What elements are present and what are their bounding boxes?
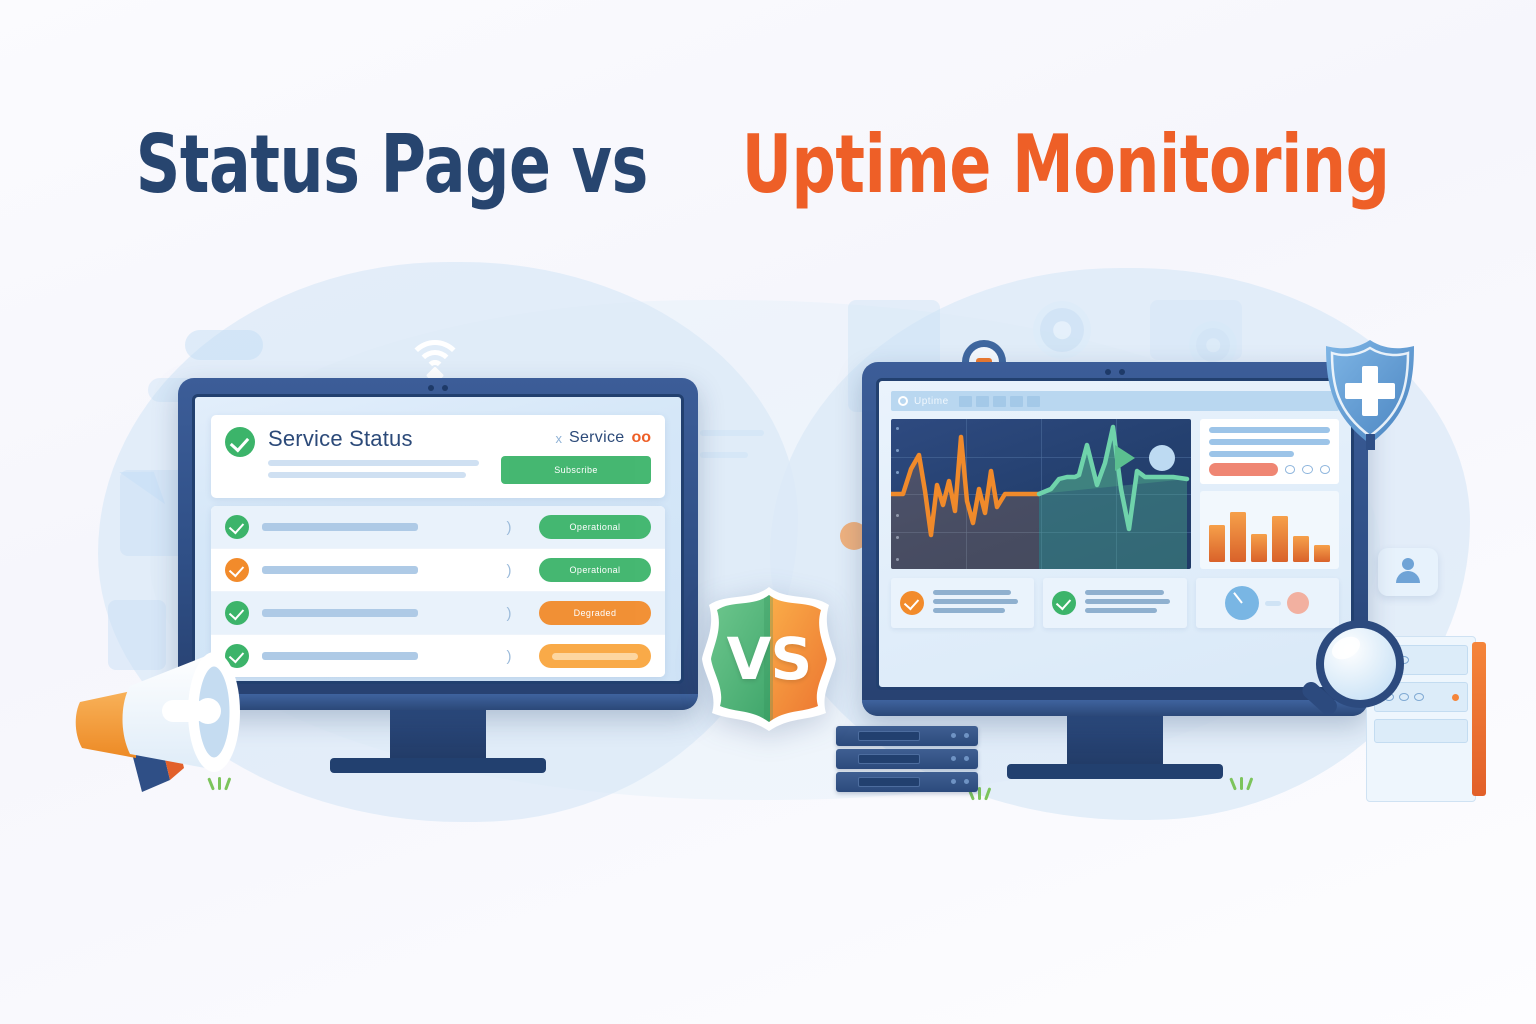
service-name-placeholder (262, 523, 418, 531)
placeholder-line (1209, 439, 1330, 445)
uptime-line-chart (891, 419, 1191, 569)
circle-outline-icon (898, 396, 908, 406)
alert-bar (1209, 463, 1278, 476)
service-status-header-card: Service Status x Service oo Subscribe (211, 415, 665, 498)
service-name-placeholder (262, 609, 418, 617)
placeholder-line (1209, 451, 1294, 457)
webcam-dots (428, 385, 448, 391)
illustration-canvas: Status Page vs Uptime Monitoring (0, 0, 1536, 1024)
placeholder-line (1209, 427, 1330, 433)
check-circle-orange-icon (900, 591, 924, 615)
monitor-stand-neck (390, 710, 486, 758)
chart-svg (891, 419, 1191, 569)
placeholder-line (1085, 608, 1157, 613)
alert-row (1209, 463, 1330, 476)
placeholder-line (268, 460, 479, 466)
uptime-dashboard-screen: Uptime (876, 378, 1354, 690)
dashboard-side-panel (1200, 419, 1339, 569)
brand-x-mark: x (556, 431, 563, 446)
row-meta: ) (492, 648, 526, 665)
webcam-dots (1105, 369, 1125, 375)
user-avatar-icon (1378, 548, 1438, 596)
server-unit (836, 726, 978, 746)
title-part-primary: Status Page vs (135, 118, 647, 211)
alert-dot-icon (1287, 592, 1309, 614)
service-name-placeholder (262, 566, 418, 574)
placeholder-line (933, 590, 1011, 595)
monitor-stand-base (1007, 764, 1223, 779)
subscribe-button[interactable]: Subscribe (501, 456, 651, 484)
magnifier-icon (1294, 612, 1416, 736)
server-unit (836, 772, 978, 792)
connector-line (1265, 601, 1281, 606)
status-badge: Operational (539, 558, 651, 582)
status-badge (539, 644, 651, 668)
check-circle-green-icon (225, 515, 249, 539)
placeholder-line (1085, 599, 1170, 604)
server-rack-icon (836, 726, 978, 802)
table-row[interactable]: ) Operational (211, 506, 665, 549)
circle-outline-icon (1302, 465, 1313, 474)
decorative-line (700, 430, 764, 436)
check-circle-green-icon (225, 601, 249, 625)
status-badge: Degraded (539, 601, 651, 625)
title-part-accent: Uptime Monitoring (742, 118, 1390, 211)
page-title: Status Page vs Uptime Monitoring (0, 118, 1536, 211)
table-row[interactable]: ) Degraded (211, 592, 665, 635)
summary-lines-card (1200, 419, 1339, 484)
vs-badge: VS (686, 583, 852, 735)
circle-outline-icon (1320, 465, 1331, 474)
decorative-line (700, 452, 748, 458)
row-meta: ) (492, 605, 526, 622)
placeholder-line (1085, 590, 1163, 595)
toolbar-label: Uptime (914, 396, 949, 407)
requests-bar-chart (1200, 491, 1339, 569)
brand-lockup: x Service oo (501, 429, 651, 447)
check-circle-green-icon (1052, 591, 1076, 615)
monitor-stand-neck (1067, 716, 1163, 764)
vs-badge-label: VS (686, 583, 852, 735)
gear-icon (1040, 308, 1084, 352)
row-meta: ) (492, 519, 526, 536)
megaphone-icon (62, 630, 312, 810)
shield-health-icon (1322, 338, 1418, 450)
uptime-monitoring-monitor: Uptime (862, 362, 1368, 779)
monitor-stand-base (330, 758, 546, 773)
check-circle-orange-icon (225, 558, 249, 582)
gauge-icon (1225, 586, 1259, 620)
dot-marker (1149, 445, 1175, 471)
cabinet-accent-strip (1472, 642, 1486, 796)
cloud-icon (185, 330, 263, 360)
brand-dot: oo (631, 429, 651, 447)
table-row[interactable]: ) Operational (211, 549, 665, 592)
dashboard-toolbar[interactable]: Uptime (891, 391, 1339, 411)
play-triangle-marker (1115, 445, 1135, 471)
circle-outline-icon (1285, 465, 1296, 474)
brand-name: Service (569, 429, 624, 447)
decorative-panel (1150, 300, 1242, 360)
placeholder-line (268, 472, 466, 478)
service-status-title: Service Status (268, 427, 488, 451)
status-cards-row (891, 578, 1339, 628)
server-unit (836, 749, 978, 769)
monitor-bezel-right: Uptime (862, 362, 1368, 716)
check-circle-green-icon (225, 427, 255, 457)
placeholder-line (933, 608, 1005, 613)
status-card-ok[interactable] (1043, 578, 1186, 628)
toolbar-blocks (959, 396, 1040, 407)
row-meta: ) (492, 562, 526, 579)
placeholder-line (933, 599, 1018, 604)
status-badge: Operational (539, 515, 651, 539)
status-card-warning[interactable] (891, 578, 1034, 628)
